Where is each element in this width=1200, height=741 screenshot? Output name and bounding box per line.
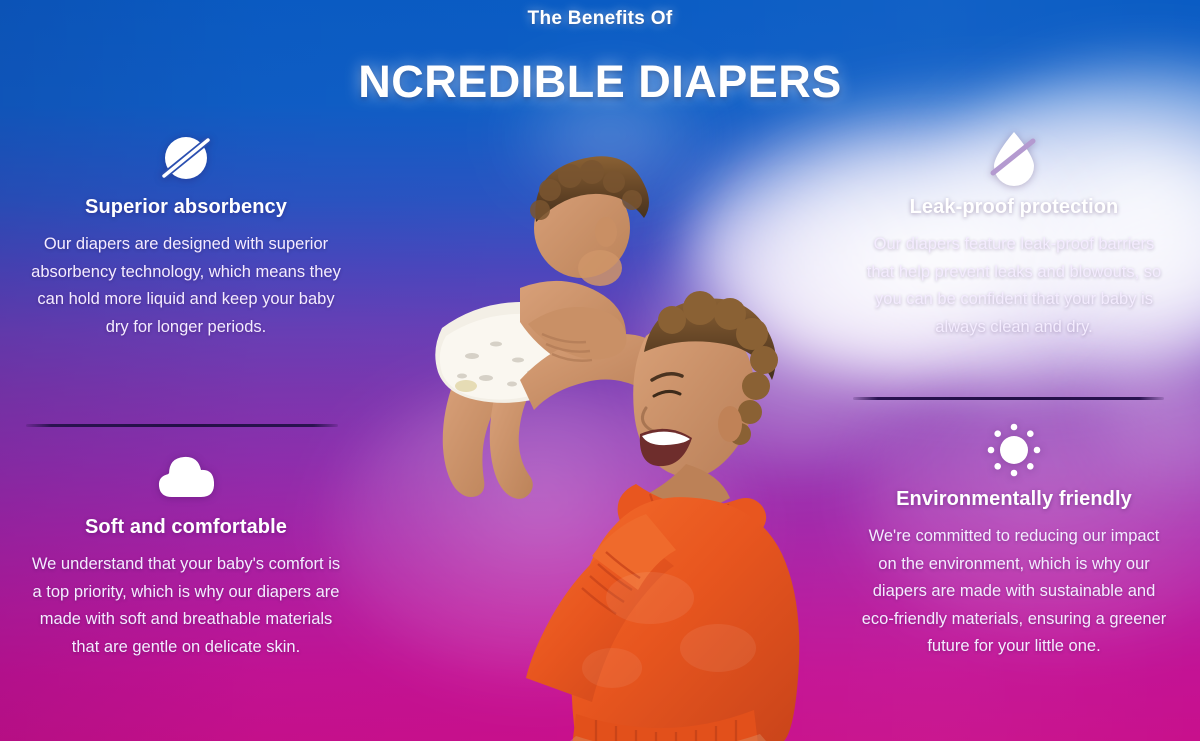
feature-body: We're committed to reducing our impact o…	[846, 523, 1182, 661]
headline-block: The Benefits Of NCREDIBLE DIAPERS	[0, 8, 1200, 108]
cloud-icon	[18, 448, 354, 508]
kicker-text: The Benefits Of	[0, 8, 1200, 30]
divider-right	[853, 397, 1164, 400]
feature-card-soft-and-comfortable: Soft and comfortable We understand that …	[18, 448, 354, 661]
feature-title: Soft and comfortable	[18, 516, 354, 539]
page-title: NCREDIBLE DIAPERS	[0, 56, 1200, 108]
hero-photo-mother-and-baby	[400, 128, 800, 741]
feature-card-superior-absorbency: Superior absorbency Our diapers are desi…	[18, 128, 354, 341]
feature-title: Superior absorbency	[18, 196, 354, 219]
sun-icon	[846, 420, 1182, 480]
feature-title: Environmentally friendly	[846, 488, 1182, 511]
benefits-poster: The Benefits Of NCREDIBLE DIAPERS	[0, 0, 1200, 741]
feature-title: Leak-proof protection	[846, 196, 1182, 219]
feature-body: We understand that your baby's comfort i…	[18, 551, 354, 661]
feature-card-leak-proof-protection: Leak-proof protection Our diapers featur…	[846, 128, 1182, 341]
feature-body: Our diapers feature leak-proof barriers …	[846, 231, 1182, 341]
no-moisture-circle-icon	[18, 128, 354, 188]
divider-left	[26, 424, 338, 427]
water-droplet-icon	[846, 128, 1182, 188]
feature-card-environmentally-friendly: Environmentally friendly We're committed…	[846, 420, 1182, 661]
feature-body: Our diapers are designed with superior a…	[18, 231, 354, 341]
